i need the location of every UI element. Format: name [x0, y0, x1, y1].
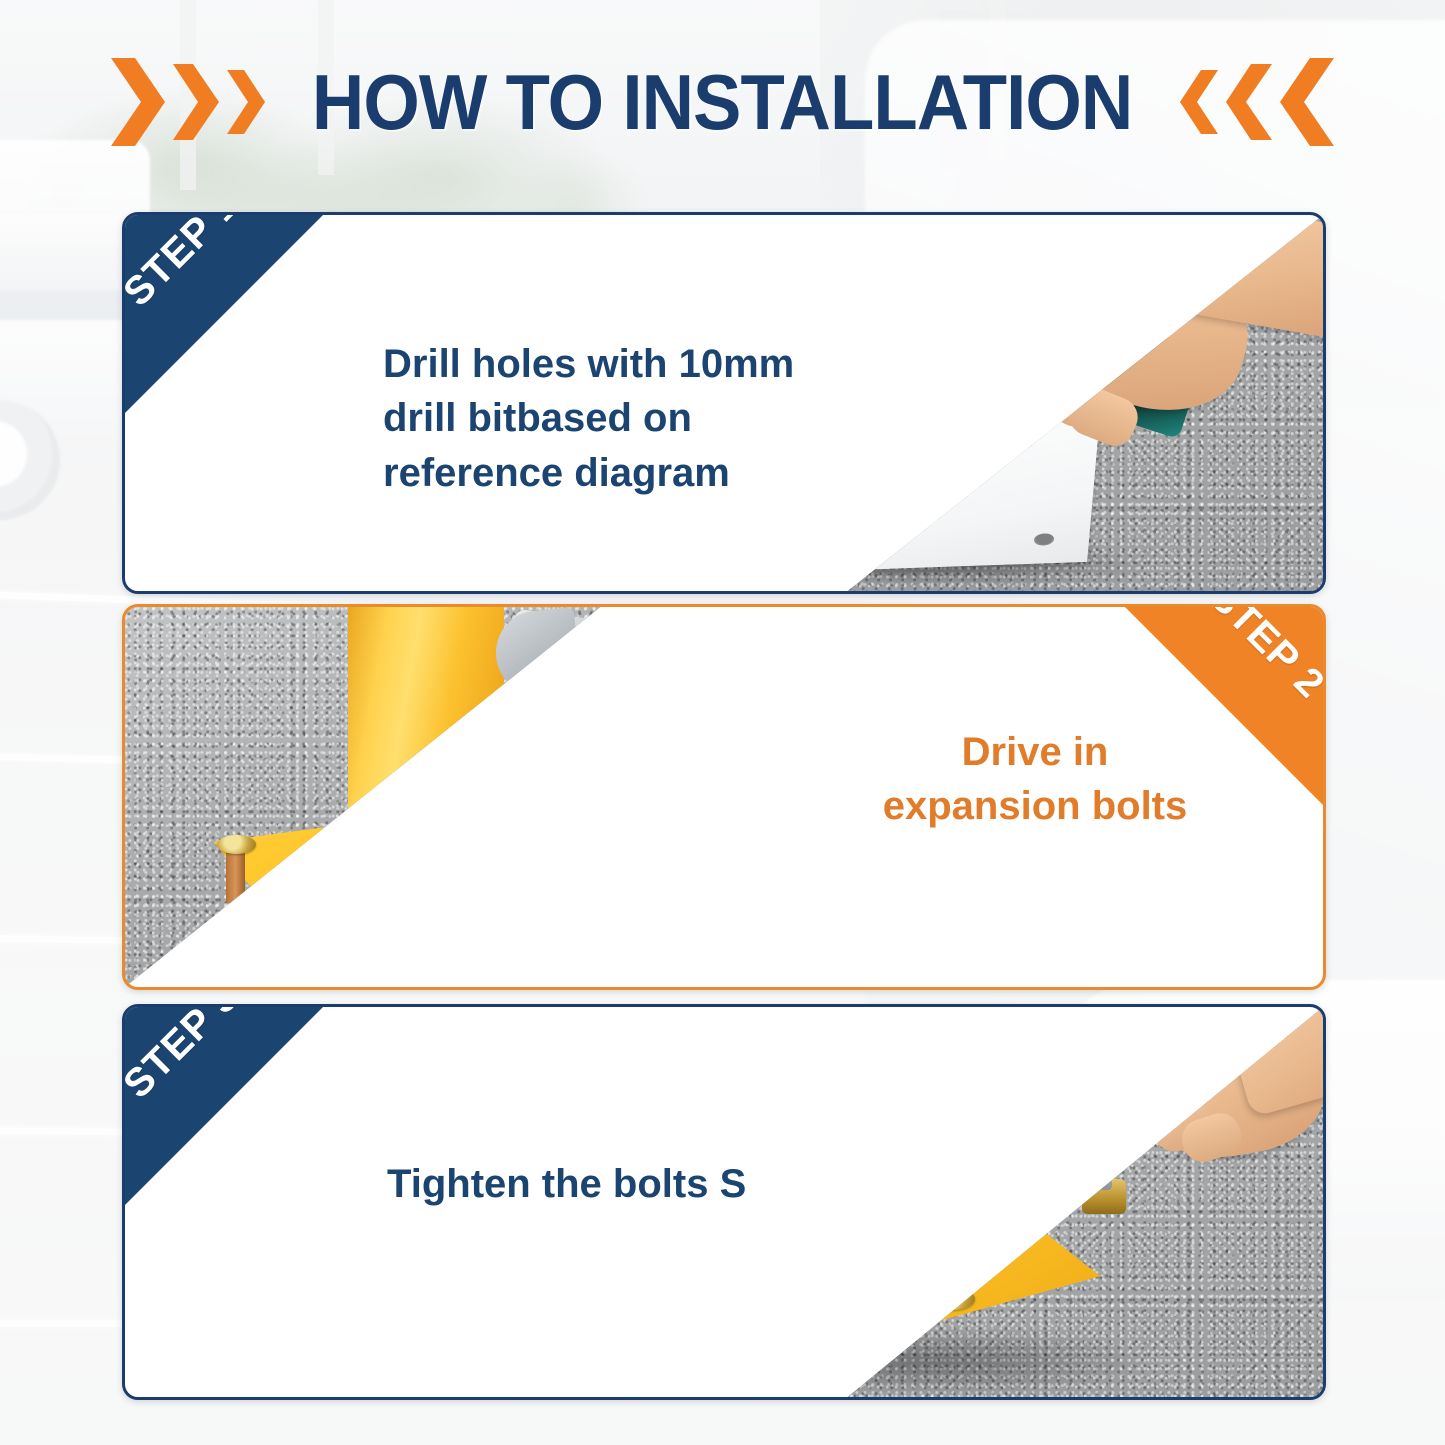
infographic-canvas: HOW TO INSTALLATION [0, 0, 1445, 1445]
chevron-left-icon [1224, 62, 1274, 142]
expansion-bolt-head [217, 835, 256, 854]
step-2-text: Drive in expansion bolts [825, 725, 1245, 834]
bollard-base-collar [788, 1210, 996, 1265]
step-3-tab-label: STEP 3 [122, 1004, 248, 1107]
chevron-left-icon [1178, 68, 1220, 136]
plate-hole [780, 545, 801, 558]
hex-wrench-horizontal-arm [1093, 1124, 1182, 1135]
bollard-post [348, 607, 504, 865]
hammer-handle [585, 613, 824, 704]
hand [1008, 217, 1266, 430]
step-panel-3: STEP 3 Tighten the bolts S [122, 1004, 1326, 1400]
chevron-left-icon [1278, 56, 1336, 148]
chevron-right-icon [109, 56, 167, 148]
expansion-bolt-shaft [226, 850, 245, 903]
plate-shadow [699, 1327, 1160, 1397]
bolt-socket [1082, 1179, 1127, 1214]
step-panel-2: STEP 2 Drive in expansion bolts [122, 604, 1326, 990]
step-panel-1: STEP 1 Drill holes with 10mm drill bitba… [122, 212, 1326, 594]
chevron-right-triple-icon [109, 56, 267, 148]
chevron-right-icon [171, 62, 221, 142]
chevron-left-triple-icon [1178, 56, 1336, 148]
drill-motor-housing [1012, 215, 1173, 300]
step-3-text: Tighten the bolts S [387, 1157, 947, 1211]
plate-hole [1033, 533, 1054, 546]
drill-collar [848, 300, 981, 397]
expansion-bolt-head [528, 778, 568, 799]
page-header: HOW TO INSTALLATION [0, 42, 1445, 162]
step-1-text: Drill holes with 10mm drill bitbased on … [383, 337, 853, 500]
plate-bolt-hole [452, 934, 470, 945]
bollard-base-collar [333, 831, 519, 884]
plate-shadow [170, 926, 675, 987]
hammer-claw [492, 607, 582, 698]
drill-body [885, 215, 1167, 394]
step-3-tab: STEP 3 [125, 1007, 323, 1205]
hex-wrench-vertical-arm [1093, 1128, 1112, 1190]
step-2-photo [125, 607, 868, 987]
step-1-tab: STEP 1 [125, 215, 323, 413]
step-1-tab-label: STEP 1 [122, 212, 248, 315]
expansion-bolt-shaft [537, 793, 556, 846]
step-2-tab-label: STEP 2 [1200, 604, 1326, 707]
drill-switch [925, 234, 986, 286]
page-title: HOW TO INSTALLATION [312, 63, 1132, 141]
tightened-bolt-head [699, 1218, 744, 1239]
chevron-right-icon [225, 68, 267, 136]
